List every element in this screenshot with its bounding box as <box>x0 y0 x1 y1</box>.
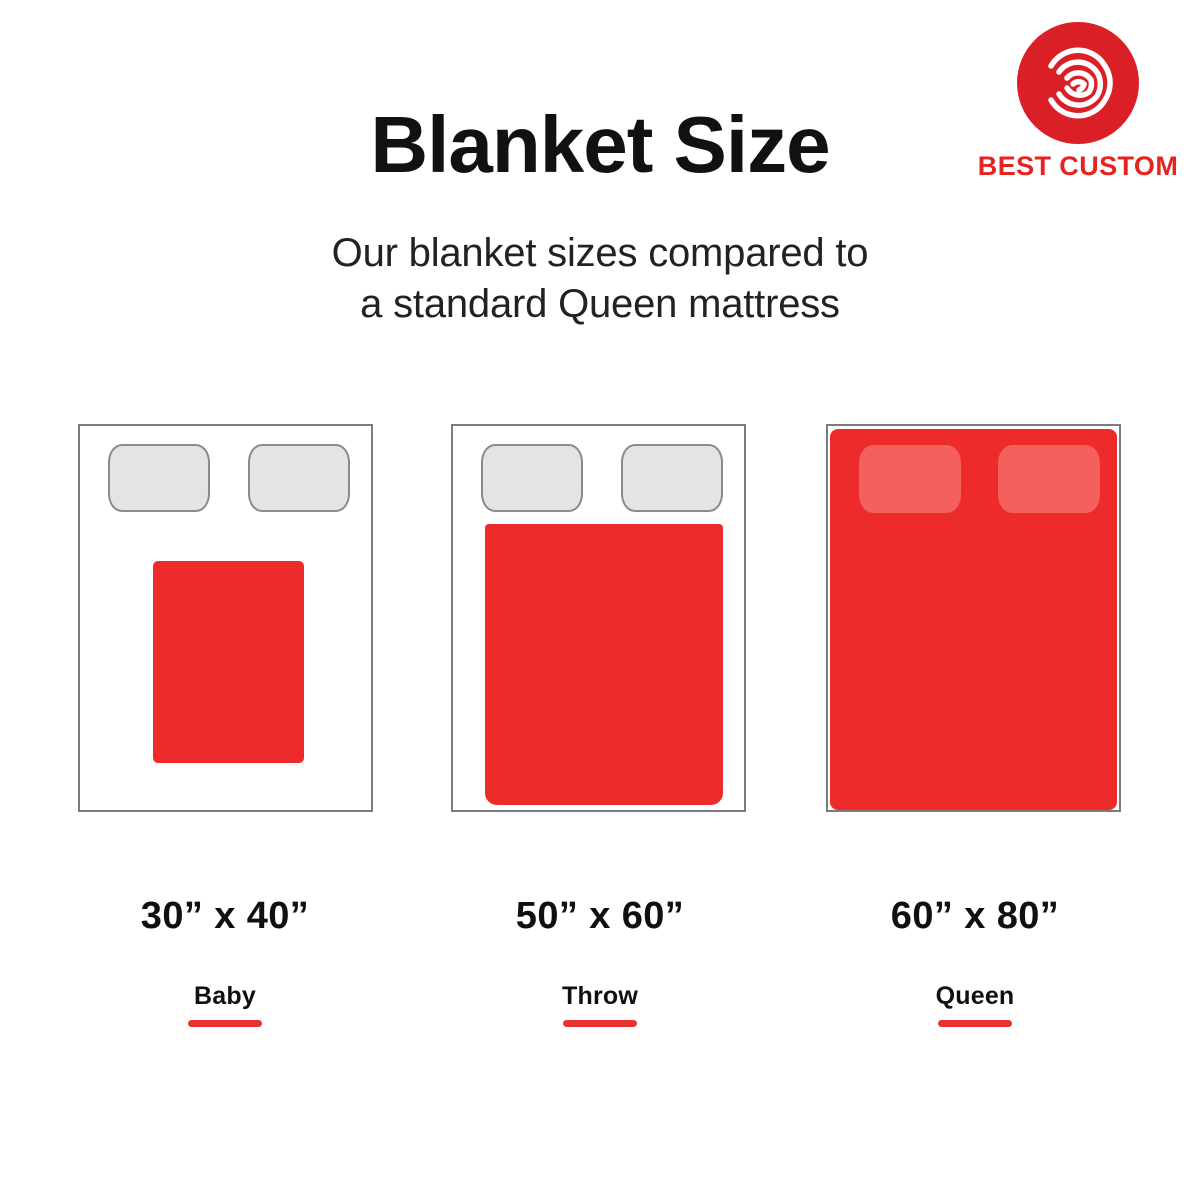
caption-dimensions: 30” x 40” <box>35 895 415 938</box>
caption-underline <box>188 1020 262 1027</box>
subtitle-line-1: Our blanket sizes compared to <box>0 228 1200 279</box>
caption-underline <box>938 1020 1012 1027</box>
caption-throw: 50” x 60” Throw <box>410 895 790 1027</box>
caption-label: Throw <box>410 982 790 1011</box>
caption-underline <box>563 1020 637 1027</box>
bed-diagram-throw <box>451 424 746 812</box>
subtitle-line-2: a standard Queen mattress <box>0 279 1200 330</box>
caption-row: 30” x 40” Baby 50” x 60” Throw 60” x 80”… <box>0 895 1200 1055</box>
blanket-swatch-queen <box>830 429 1117 810</box>
blanket-swatch-baby <box>153 561 304 763</box>
caption-label: Baby <box>35 982 415 1011</box>
page-title: Blanket Size <box>0 105 1200 185</box>
pillow-left-icon <box>859 445 961 513</box>
caption-label: Queen <box>785 982 1165 1011</box>
pillow-right-icon <box>998 445 1100 513</box>
caption-queen: 60” x 80” Queen <box>785 895 1165 1027</box>
caption-baby: 30” x 40” Baby <box>35 895 415 1027</box>
pillow-left-icon <box>481 444 583 512</box>
caption-dimensions: 50” x 60” <box>410 895 790 938</box>
bed-diagram-queen <box>826 424 1121 812</box>
page-subtitle: Our blanket sizes compared to a standard… <box>0 228 1200 330</box>
caption-dimensions: 60” x 80” <box>785 895 1165 938</box>
bed-diagram-baby <box>78 424 373 812</box>
blanket-swatch-throw <box>485 524 723 805</box>
blanket-size-infographic: BEST CUSTOM Blanket Size Our blanket siz… <box>0 0 1200 1200</box>
pillow-left-icon <box>108 444 210 512</box>
pillow-right-icon <box>248 444 350 512</box>
pillow-right-icon <box>621 444 723 512</box>
bed-comparison-row <box>0 424 1200 814</box>
